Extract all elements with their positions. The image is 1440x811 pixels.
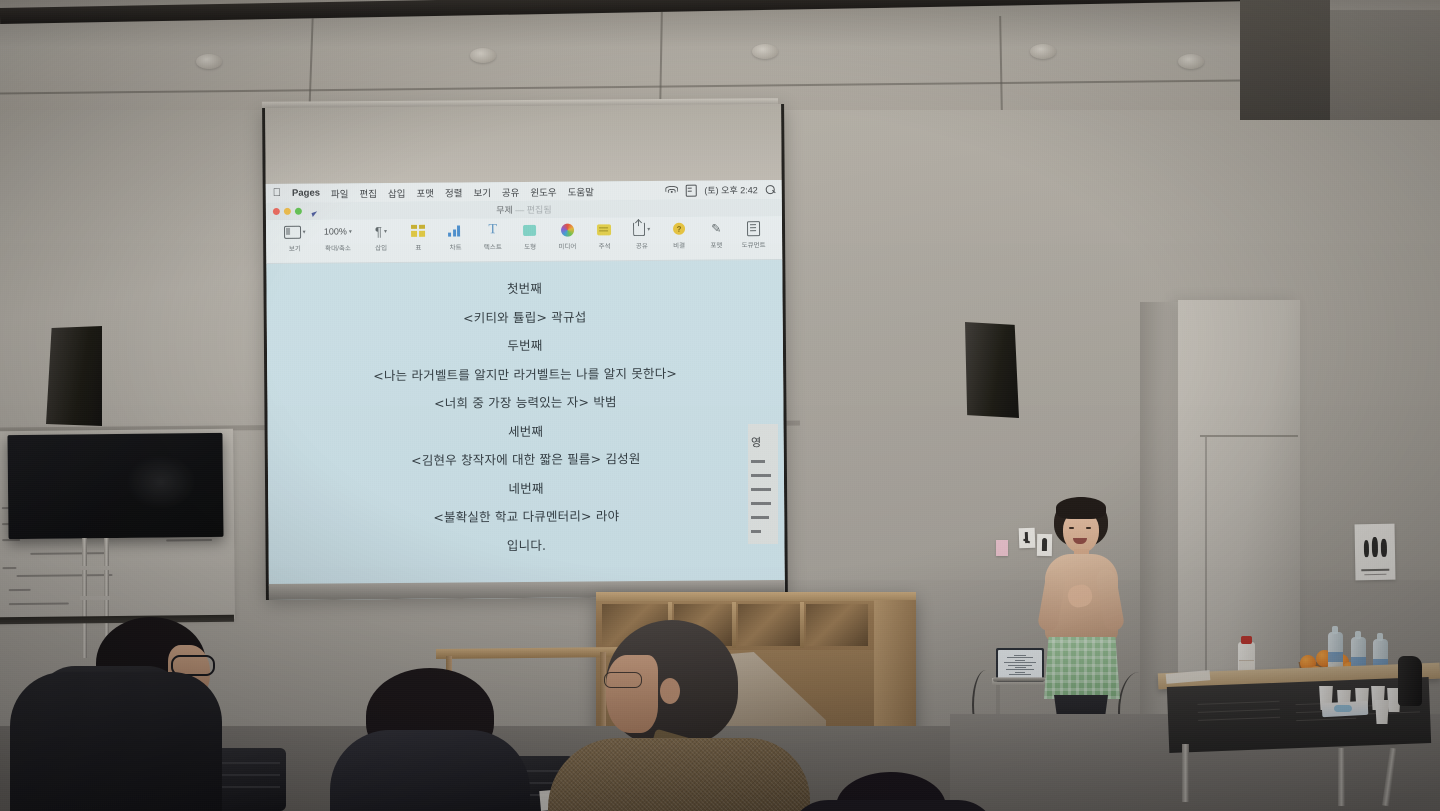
media-icon xyxy=(561,223,574,236)
ceiling-light-icon xyxy=(1178,54,1204,69)
poster-caption-line xyxy=(1361,569,1389,571)
menu-help[interactable]: 도움말 xyxy=(568,184,594,198)
toolbar-chart-label: 차트 xyxy=(450,241,462,251)
toolbar-zoom-control[interactable]: 100%▾ 확대/축소 xyxy=(313,222,362,252)
control-center-icon[interactable] xyxy=(685,184,696,196)
pillar-side-face xyxy=(1140,302,1180,720)
table-leg xyxy=(1182,744,1189,802)
cubby-top-board xyxy=(596,592,916,601)
flat-screen-tv xyxy=(7,433,223,539)
tv-reflection xyxy=(126,454,197,510)
wall-corner-panel xyxy=(1330,10,1440,120)
text-box-icon: T xyxy=(488,224,497,237)
presenter xyxy=(1032,497,1132,742)
wifi-icon[interactable] xyxy=(666,186,677,195)
toolbar-document-button[interactable]: 도큐먼트 xyxy=(735,219,772,249)
menu-arrange[interactable]: 정렬 xyxy=(445,185,463,199)
cubby-cell xyxy=(806,604,868,646)
document-canvas[interactable]: 첫번째 <키티와 튤립> 곽규섭 두번째 <나는 라거벨트를 알지만 라거벨트는… xyxy=(266,260,785,600)
toolbar-media-label: 미디어 xyxy=(558,241,576,251)
presenter-hair-fringe xyxy=(1056,497,1106,519)
penguin-poster xyxy=(1355,524,1396,581)
wall-card-pink xyxy=(996,540,1008,556)
poster-caption-line xyxy=(1364,573,1386,575)
chair-slat xyxy=(216,786,280,788)
toolbar-comment-label: 주석 xyxy=(599,240,611,250)
window-title-text: 무제 xyxy=(496,205,513,215)
projected-macos-window:  Pages 파일 편집 삽입 포맷 정렬 보기 공유 윈도우 도움말 (토)… xyxy=(266,180,785,586)
menu-share[interactable]: 공유 xyxy=(502,185,520,199)
ceiling-light-icon xyxy=(470,48,496,63)
ceiling-light-icon xyxy=(196,54,222,69)
milk-bottle-cap xyxy=(1241,636,1252,644)
menu-app-name[interactable]: Pages xyxy=(292,188,320,199)
document-line: 네번째 xyxy=(508,477,543,496)
wall-poster-behind-screen: 영 xyxy=(748,424,778,544)
audience-3-face xyxy=(606,655,658,733)
cubby-divider xyxy=(800,602,804,648)
table-leg xyxy=(1382,748,1397,806)
toolbar-format-label: 포맷 xyxy=(710,239,722,249)
lock-icon: ? xyxy=(673,223,685,235)
toolbar-shape-label: 도형 xyxy=(524,241,536,251)
napkin-pack-logo xyxy=(1334,705,1352,712)
insert-paragraph-icon: ¶ xyxy=(375,225,382,238)
presenter-skirt xyxy=(1044,637,1120,699)
presenter-eye xyxy=(1069,527,1074,529)
view-panel-icon xyxy=(284,225,301,238)
toolbar-text-label: 텍스트 xyxy=(484,241,502,251)
toolbar-chart-button[interactable]: 차트 xyxy=(437,221,474,251)
audience-2-jacket xyxy=(330,730,530,811)
apple-logo-icon[interactable]:  xyxy=(273,188,281,199)
toolbar-text-button[interactable]: T 텍스트 xyxy=(474,221,511,251)
chair-slat xyxy=(216,774,280,776)
toolbar-insert-label: 삽입 xyxy=(375,242,387,252)
toolbar-insert-button[interactable]: ¶▾ 삽입 xyxy=(362,222,399,252)
chair-slat xyxy=(216,762,280,764)
menu-view[interactable]: 보기 xyxy=(473,185,491,199)
format-brush-icon: ✎ xyxy=(711,221,721,235)
document-line: <불확실한 학교 다큐멘터리> 라야 xyxy=(433,505,619,525)
toolbar-zoom-label: 확대/축소 xyxy=(325,242,351,252)
electric-kettle xyxy=(1398,656,1422,706)
toolbar-table-button[interactable]: 표 xyxy=(400,222,437,252)
bottle-neck xyxy=(1332,626,1338,634)
toolbar-view-button[interactable]: ▾ 보기 xyxy=(276,223,313,253)
audience-3-glasses xyxy=(604,672,642,688)
document-line: <너희 중 가장 능력있는 자> 박범 xyxy=(434,391,617,411)
document-line: <키티와 튤립> 곽규섭 xyxy=(463,306,586,326)
document-line: <김현우 창작자에 대한 짧은 필름> 김성원 xyxy=(411,448,641,469)
shape-icon xyxy=(523,224,536,235)
window-title-suffix: — 편집됨 xyxy=(515,205,551,215)
zoom-level-value: 100% xyxy=(324,226,347,236)
cubby-divider xyxy=(732,602,736,648)
toolbar-lock-label: 비결 xyxy=(673,240,685,250)
side-table-top xyxy=(436,647,618,659)
chart-icon xyxy=(448,224,462,236)
audience-3-tweed-texture xyxy=(548,738,810,811)
toolbar-lock-button[interactable]: ? 비결 xyxy=(660,220,697,250)
share-icon xyxy=(633,222,645,236)
cubby-cell xyxy=(738,604,800,646)
audience-1-jacket xyxy=(10,672,222,811)
menu-insert[interactable]: 삽입 xyxy=(388,185,406,199)
ceiling-light-icon xyxy=(1030,44,1056,59)
wall-speaker-right xyxy=(965,322,1019,418)
document-line: 세번째 xyxy=(508,420,543,439)
document-line: 두번째 xyxy=(507,335,542,354)
bottle-label xyxy=(1328,652,1343,662)
menu-window[interactable]: 윈도우 xyxy=(530,184,556,198)
audience-4-body xyxy=(788,800,998,811)
document-line: 첫번째 xyxy=(507,278,542,297)
screen-blank-area xyxy=(265,104,782,186)
menu-file[interactable]: 파일 xyxy=(331,186,349,200)
pillar-seam xyxy=(1200,435,1298,437)
paper-cup xyxy=(1374,700,1390,724)
window-title: 무제 — 편집됨 xyxy=(266,201,782,218)
toolbar-view-label: 보기 xyxy=(289,243,301,253)
toolbar-media-button[interactable]: 미디어 xyxy=(549,221,586,251)
toolbar-document-label: 도큐먼트 xyxy=(742,239,766,249)
toolbar-comment-button[interactable]: 주석 xyxy=(586,220,623,250)
projector-screen:  Pages 파일 편집 삽입 포맷 정렬 보기 공유 윈도우 도움말 (토)… xyxy=(262,104,788,600)
toolbar-table-label: 표 xyxy=(415,242,421,252)
wall-recess-dark xyxy=(1240,0,1330,120)
toolbar-share-label: 공유 xyxy=(636,240,648,250)
document-icon xyxy=(747,221,760,236)
poster-heading: 영 xyxy=(751,434,761,450)
menu-format[interactable]: 포맷 xyxy=(416,185,434,199)
ceiling-light-icon xyxy=(752,44,778,59)
search-icon[interactable] xyxy=(766,185,775,194)
document-line: 입니다. xyxy=(507,534,546,553)
table-leg xyxy=(1338,748,1345,806)
table-icon xyxy=(411,225,425,237)
presenter-eye xyxy=(1086,527,1091,529)
bottle-neck xyxy=(1377,633,1383,641)
lecture-room-photo:  Pages 파일 편집 삽입 포맷 정렬 보기 공유 윈도우 도움말 (토)… xyxy=(0,0,1440,811)
wall-speaker-left xyxy=(46,326,102,426)
menu-edit[interactable]: 편집 xyxy=(359,186,377,200)
document-line: <나는 라거벨트를 알지만 라거벨트는 나를 알지 못한다> xyxy=(373,362,677,383)
toolbar-shape-button[interactable]: 도형 xyxy=(511,221,548,251)
toolbar-format-button[interactable]: ✎ 포맷 xyxy=(698,219,735,249)
tv-stand-brace xyxy=(80,566,110,570)
pages-toolbar[interactable]: ▾ 보기 100%▾ 확대/축소 ¶▾ 삽입 표 차트 xyxy=(266,216,782,264)
menubar-clock[interactable]: (토) 오후 2:42 xyxy=(704,183,757,196)
toolbar-share-button[interactable]: ▾ 공유 xyxy=(623,220,660,250)
comment-icon xyxy=(597,224,611,235)
tv-stand-brace xyxy=(80,596,110,600)
audience-3-ear xyxy=(660,678,680,704)
bottle-neck xyxy=(1355,631,1361,639)
